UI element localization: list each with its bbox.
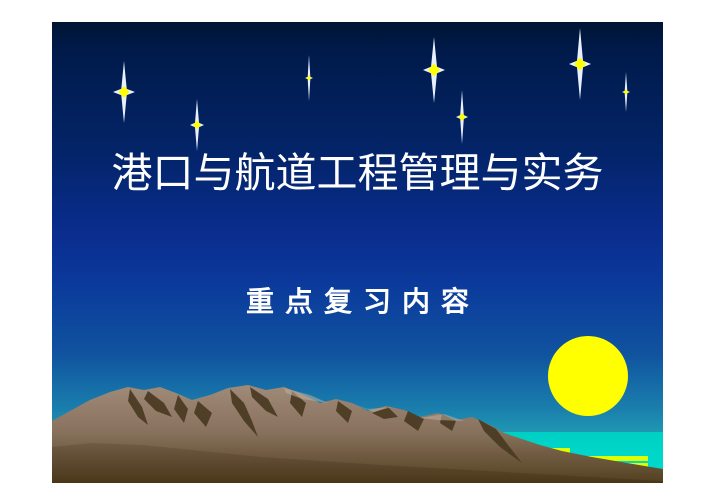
slide-subtitle: 重点复习内容 [52,280,663,320]
star-icon [456,90,468,144]
star-icon [113,61,135,123]
presentation-slide: 港口与航道工程管理与实务 重点复习内容 [52,22,663,483]
star-icon [190,99,204,151]
mountain-range [52,373,663,483]
slide-title: 港口与航道工程管理与实务 [52,150,663,197]
star-icon [423,37,445,103]
star-icon [622,72,630,112]
star-icon [305,55,313,101]
star-icon [569,28,591,100]
slide-canvas: 港口与航道工程管理与实务 重点复习内容 [0,0,713,504]
